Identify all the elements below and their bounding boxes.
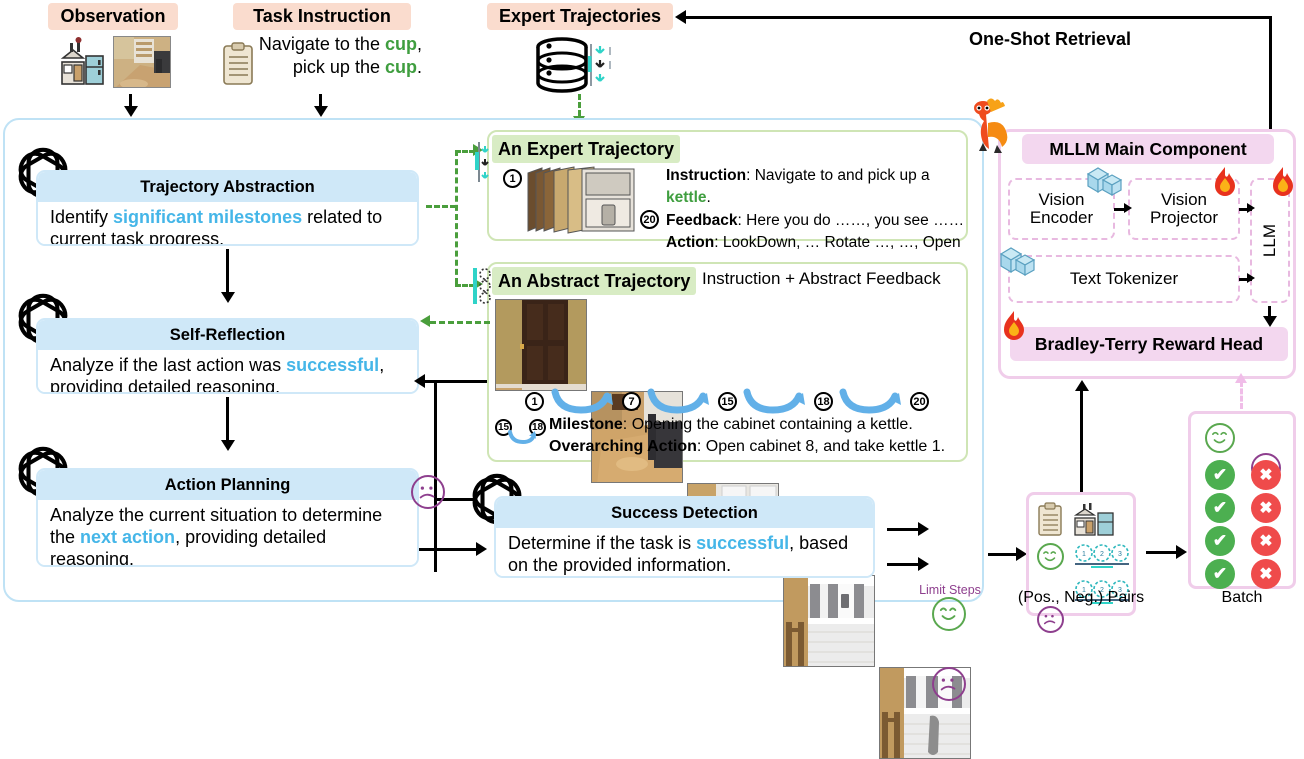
arrow-task-head [314, 106, 328, 117]
trajectory-abstraction-title: Trajectory Abstraction [38, 172, 417, 202]
sad-face-icon-inline [411, 475, 445, 509]
flow-icon-expert [466, 140, 492, 184]
reward-head-label: Bradley-Terry Reward Head [1035, 334, 1263, 355]
green-dash-back-line [430, 321, 490, 324]
batch-cross-4: ✖ [1251, 559, 1281, 589]
happy-face-icon-sd [932, 597, 966, 631]
ta-pre: Identify [50, 207, 113, 227]
success-detection-body: Determine if the task is successful, bas… [496, 528, 873, 578]
expert-row-key-0: Instruction [666, 167, 746, 184]
one-shot-retrieval-line [686, 16, 1272, 19]
arrow-ta-sr-head [221, 292, 235, 303]
milestone-key: Milestone [549, 416, 623, 433]
batch-label: Batch [1182, 589, 1302, 607]
arrow-pairs-batch-head [1176, 545, 1187, 559]
limit-steps-label: Limit Steps [900, 583, 1000, 597]
arrow-ap-sd-hline [419, 548, 479, 551]
ti-line1-highlight: cup [385, 34, 417, 54]
mllm-title: MLLM Main Component [1022, 134, 1274, 164]
success-detection-title: Success Detection [496, 498, 873, 528]
batch-cross-2: ✖ [1251, 493, 1281, 523]
observation-label: Observation [48, 3, 178, 30]
sr-highlight: successful [286, 355, 379, 375]
llm-label: LLM [1261, 224, 1279, 257]
expert-row-feedback: Feedback: Here you do ……, you see …… [666, 210, 966, 232]
arrow-ap-sd-head [476, 542, 487, 556]
flow-icon-abstract [466, 264, 492, 308]
sad-face-icon-pair [1037, 606, 1064, 633]
ti-line2-pre: pick up the [293, 57, 385, 77]
overarching-key: Overarching Action [549, 438, 697, 455]
abstract-step-5: 20 [910, 392, 929, 411]
svg-text:2: 2 [1100, 551, 1104, 558]
batch-check-2: ✔ [1205, 493, 1235, 523]
expert-row-val-1: : Here you do ……, you see …… [738, 212, 965, 229]
arrow-observation-head [124, 106, 138, 117]
ti-line2-post: . [417, 57, 422, 77]
batch-check-3: ✔ [1205, 526, 1235, 556]
pairs-label: (Pos., Neg.) Pairs [1006, 589, 1156, 607]
text-tokenizer-box[interactable]: Text Tokenizer [1008, 255, 1240, 303]
sd-highlight: successful [696, 533, 789, 553]
mllm-arrow-1-head [1124, 203, 1132, 213]
arrow-sd-ok-line [887, 528, 920, 531]
expert-trajectory-title: An Expert Trajectory [492, 135, 680, 163]
overarching-value: : Open cabinet 8, and take kettle 1. [697, 438, 945, 455]
arrow-sd-ok-head [918, 522, 929, 536]
reward-head-box[interactable]: Bradley-Terry Reward Head [1010, 327, 1288, 361]
expert-db-dashed-line [578, 94, 581, 116]
expert-row-hl-0: kettle [666, 189, 707, 206]
green-dash-vertical [455, 150, 458, 284]
task-instruction-text: Navigate to the cup, pick up the cup. [250, 33, 422, 80]
batch-to-mllm-dashed-head [1235, 373, 1247, 383]
sd-pre: Determine if the task is [508, 533, 696, 553]
svg-text:1: 1 [1082, 551, 1086, 558]
expert-row-key-2: Action [666, 234, 714, 251]
svg-text:3: 3 [1118, 551, 1122, 558]
arrow-ta-sr-line [226, 249, 229, 297]
database-icon [535, 37, 589, 93]
expert-trajectory-rows: Instruction: Navigate to and pick up a k… [666, 165, 966, 277]
arrow-sd-sr-head [414, 374, 425, 388]
ap-highlight: next action [80, 527, 175, 547]
sr-pre: Analyze if the last action was [50, 355, 286, 375]
expert-row-val-0: : Navigate to and pick up a [746, 167, 930, 184]
kitchen-icon-pair [1073, 502, 1123, 536]
abstract-trajectory-title: An Abstract Trajectory [492, 267, 696, 295]
batch-happy-face-icon [1205, 423, 1235, 453]
abstract-trajectory-card[interactable]: An Abstract Trajectory Instruction + Abs… [487, 262, 968, 462]
expert-frame-stack [524, 165, 639, 235]
abstract-thumb-1 [495, 299, 587, 391]
snowflake-cubes-icon-vision [1085, 164, 1125, 198]
self-reflection-title: Self-Reflection [38, 320, 417, 350]
snowflake-cubes-icon-text [998, 244, 1038, 278]
flame-icon-projector [1212, 166, 1238, 198]
action-planning-body: Analyze the current situation to determi… [38, 500, 417, 567]
traj-icon-pos: 1 2 3 [1073, 543, 1131, 569]
batch-to-mllm-dashed [1240, 381, 1243, 409]
ti-line1-pre: Navigate to the [259, 34, 385, 54]
expert-row-instruction: Instruction: Navigate to and pick up a k… [666, 165, 966, 210]
observation-thumbnail [113, 36, 171, 88]
one-shot-retrieval-head [675, 10, 686, 24]
ti-line2-highlight: cup [385, 57, 417, 77]
expert-row-post-0: . [707, 189, 711, 206]
mllm-arrow-4-head [1263, 316, 1277, 327]
abstract-step-2: 7 [622, 392, 641, 411]
batch-cross-1: ✖ [1251, 460, 1281, 490]
arrow-sd-sr-hline-top [437, 380, 492, 383]
flame-icon-llm [1270, 166, 1296, 198]
arrow-pairs-batch-line [1146, 551, 1178, 554]
batch-check-4: ✔ [1205, 559, 1235, 589]
batch-cross-3: ✖ [1251, 526, 1281, 556]
flame-icon-reward-head [1001, 310, 1027, 342]
arrow-pairs-mllm-head [1075, 380, 1089, 391]
task-instruction-label: Task Instruction [233, 3, 411, 30]
arrow-sr-ap-line [226, 397, 229, 445]
self-reflection-body: Analyze if the last action was successfu… [38, 350, 417, 394]
abstract-trajectory-subtitle: Instruction + Abstract Feedback [702, 269, 941, 289]
abstract-step-4: 18 [814, 392, 833, 411]
milestone-pair-arc [507, 430, 539, 451]
action-planning-title: Action Planning [38, 470, 417, 500]
batch-box: ✔ ✖ ✔ ✖ ✔ ✖ ✔ ✖ [1188, 411, 1296, 589]
trajectory-abstraction-card[interactable]: Trajectory Abstraction Identify signific… [36, 170, 419, 246]
arrow-pipeline-pairs-line [988, 553, 1018, 556]
green-dash-back-head [420, 315, 430, 327]
trajectory-abstraction-body: Identify significant milestones related … [38, 202, 417, 246]
arrow-sd-bad-line [887, 563, 920, 566]
abstract-thumb-4 [783, 575, 875, 667]
kitchen-icon [60, 36, 112, 88]
success-detection-card[interactable]: Success Detection Determine if the task … [494, 496, 875, 578]
expert-step-end: 20 [640, 210, 659, 229]
retrieval-flow-icon [588, 42, 614, 88]
batch-check-1: ✔ [1205, 460, 1235, 490]
ti-line1-post: , [417, 34, 422, 54]
self-reflection-card[interactable]: Self-Reflection Analyze if the last acti… [36, 318, 419, 394]
expert-trajectories-label: Expert Trajectories [487, 3, 673, 30]
expert-trajectory-card[interactable]: An Expert Trajectory 1 20 Instruction: N… [487, 130, 968, 241]
mllm-arrow-2-head [1247, 203, 1255, 213]
arrow-sd-sr-join [425, 380, 439, 383]
ta-highlight: significant milestones [113, 207, 302, 227]
dragon-mascot-icon [963, 95, 1019, 155]
abstract-step-1: 1 [525, 392, 544, 411]
milestone-value: : Opening the cabinet containing a kettl… [623, 416, 913, 433]
arrow-sr-ap-head [221, 440, 235, 451]
sad-face-icon-sd [932, 667, 966, 701]
action-planning-card[interactable]: Action Planning Analyze the current situ… [36, 468, 419, 567]
happy-face-icon-pair [1037, 543, 1064, 570]
arrow-sd-bad-head [918, 557, 929, 571]
arrow-pairs-mllm-line [1080, 390, 1083, 492]
expert-step-start: 1 [503, 169, 522, 188]
clipboard-icon-pair [1037, 502, 1063, 536]
abstract-step-3: 15 [718, 392, 737, 411]
expert-row-key-1: Feedback [666, 212, 738, 229]
one-shot-retrieval-label: One-Shot Retrieval [960, 29, 1140, 50]
mllm-arrow-3-head [1247, 273, 1255, 283]
green-dash-out-abstraction [426, 205, 456, 208]
text-tokenizer-label: Text Tokenizer [1070, 270, 1178, 288]
milestone-lines: Milestone: Opening the cabinet containin… [549, 414, 945, 457]
